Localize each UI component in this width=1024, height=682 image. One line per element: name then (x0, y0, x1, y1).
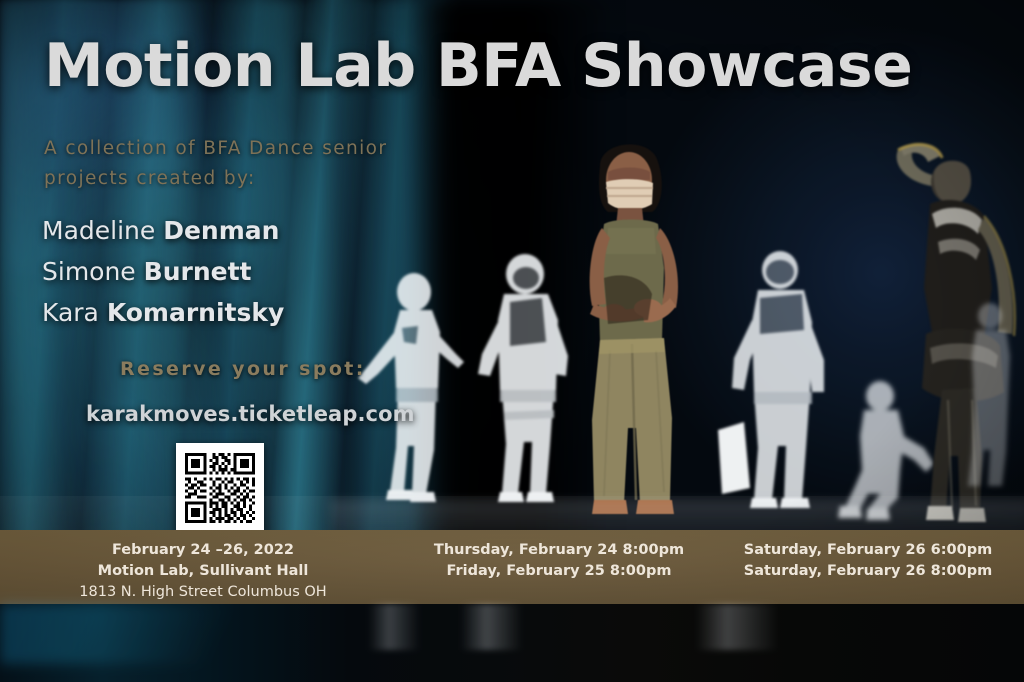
creator-row: Madeline Denman (42, 210, 284, 251)
creator-last-name: Burnett (144, 257, 252, 286)
lower-light-reflections (0, 604, 1024, 650)
center-dancer (548, 128, 718, 528)
footer-bar: February 24 –26, 2022 Motion Lab, Sulliv… (0, 530, 1024, 604)
creator-last-name: Denman (163, 216, 279, 245)
poster-canvas: Motion Lab BFA Showcase A collection of … (0, 0, 1024, 682)
subtitle: A collection of BFA Dance senior project… (44, 134, 387, 194)
venue-address: 1813 N. High Street Columbus OH (0, 582, 406, 603)
creator-first-name: Simone (42, 257, 144, 286)
venue-info: February 24 –26, 2022 Motion Lab, Sulliv… (0, 540, 406, 603)
subtitle-line-2: projects created by: (44, 164, 387, 194)
showtime-item: Friday, February 25 8:00pm (406, 561, 712, 582)
creator-row: Kara Komarnitsky (42, 292, 284, 333)
projected-dancer-far-right (960, 300, 1024, 500)
qr-code[interactable] (176, 443, 264, 533)
projected-dancer-pair (718, 248, 858, 518)
creator-last-name: Komarnitsky (107, 298, 284, 327)
showtimes-column-1: Thursday, February 24 8:00pm Friday, Feb… (406, 540, 712, 582)
showtime-item: Thursday, February 24 8:00pm (406, 540, 712, 561)
showtimes-column-2: Saturday, February 26 6:00pm Saturday, F… (712, 540, 1024, 582)
showtime-item: Saturday, February 26 8:00pm (712, 561, 1024, 582)
projected-dancer-left (352, 270, 482, 510)
qr-code-icon (182, 450, 258, 526)
page-title: Motion Lab BFA Showcase (44, 31, 912, 101)
creator-list: Madeline Denman Simone Burnett Kara Koma… (42, 210, 284, 333)
creator-first-name: Kara (42, 298, 107, 327)
venue-name: Motion Lab, Sullivant Hall (0, 561, 406, 582)
ticket-url[interactable]: karakmoves.ticketleap.com (86, 402, 415, 426)
showtime-item: Saturday, February 26 6:00pm (712, 540, 1024, 561)
creator-first-name: Madeline (42, 216, 163, 245)
venue-dates: February 24 –26, 2022 (0, 540, 406, 561)
subtitle-line-1: A collection of BFA Dance senior (44, 134, 387, 164)
reserve-label: Reserve your spot: (120, 358, 366, 380)
creator-row: Simone Burnett (42, 251, 284, 292)
